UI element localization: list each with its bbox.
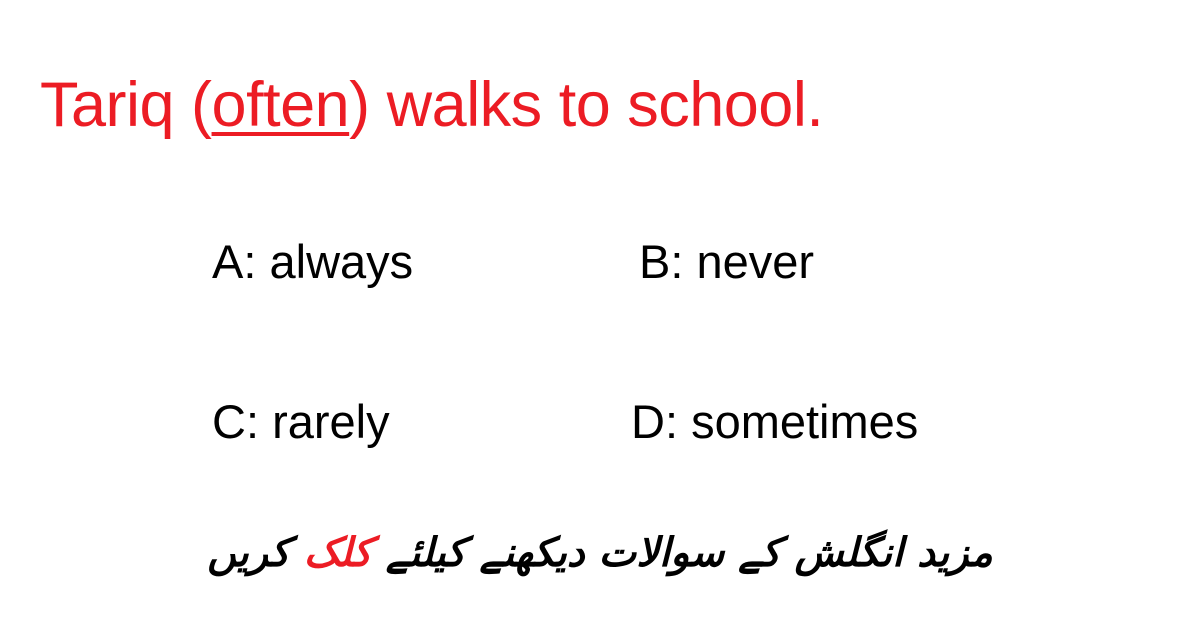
option-c[interactable]: C: rarely [212,398,390,445]
urdu-text-before: مزید انگلش کے سوالات دیکھنے کیلئے [372,530,993,576]
option-c-key: C: [212,395,259,448]
option-a-key: A: [212,235,256,288]
quiz-card: Tariq (often) walks to school. A: always… [0,0,1200,630]
question-text: Tariq (often) walks to school. [40,72,1160,139]
answer-options: A: always B: never C: rarely D: sometime… [0,228,1200,468]
question-emphasis-word: often [212,70,350,140]
option-d[interactable]: D: sometimes [631,398,918,445]
option-a[interactable]: A: always [212,238,413,285]
urdu-call-to-action[interactable]: مزید انگلش کے سوالات دیکھنے کیلئے کلک کر… [0,524,1200,582]
urdu-click-word[interactable]: کلک [304,530,372,576]
option-b-label: never [696,235,814,288]
option-b[interactable]: B: never [639,238,814,285]
option-c-label: rarely [272,395,390,448]
option-d-label: sometimes [691,395,918,448]
option-d-key: D: [631,395,678,448]
question-text-before: Tariq ( [40,70,212,140]
option-a-label: always [269,235,413,288]
question-text-after: ) walks to school. [349,70,823,140]
urdu-text-after: کریں [207,530,304,576]
option-b-key: B: [639,235,683,288]
